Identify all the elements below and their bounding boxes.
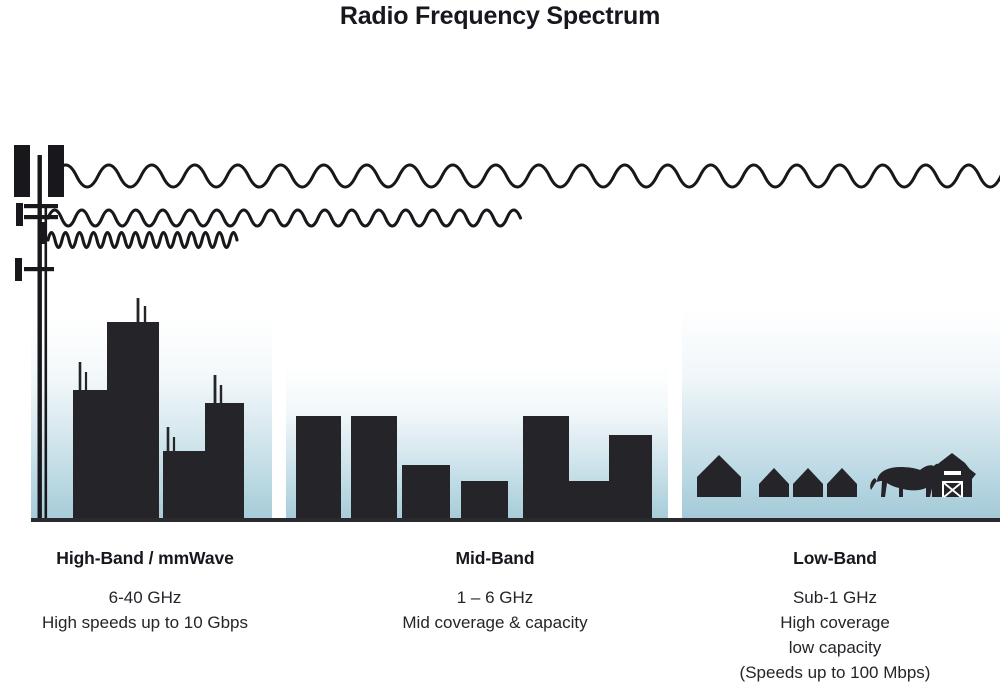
band-name-high: High-Band / mmWave	[0, 548, 290, 569]
band-frequency-high: 6-40 GHz	[0, 585, 290, 610]
band-details-mid: 1 – 6 GHz Mid coverage & capacity	[350, 585, 640, 635]
band-detail-low-1: low capacity	[690, 635, 980, 660]
band-frequency-mid: 1 – 6 GHz	[350, 585, 640, 610]
tower-crossbar-2b	[24, 215, 58, 219]
skyscraper-icon-3	[163, 451, 205, 521]
band-caption-mid: Mid-Band 1 – 6 GHz Mid coverage & capaci…	[350, 548, 640, 635]
wave-low-band	[55, 165, 1000, 187]
band-name-mid: Mid-Band	[350, 548, 640, 569]
skyscraper-icon-1	[73, 390, 107, 521]
tower-panel-lower-left	[15, 258, 22, 281]
wave-mid-band	[48, 210, 521, 226]
building-icon-2	[351, 416, 397, 521]
tower-crossbar-2	[24, 204, 58, 208]
skyscraper-icon-4	[205, 403, 244, 521]
tower-panel-mid-left	[16, 203, 23, 226]
band-detail-low-0: High coverage	[690, 610, 980, 635]
tower-crossbar-4	[24, 267, 54, 271]
building-icon-5	[523, 416, 569, 521]
tower-panel-upper-right	[48, 145, 64, 197]
tower-mast-main	[38, 155, 42, 521]
tower-panel-mid-right	[41, 222, 47, 244]
band-caption-high: High-Band / mmWave 6-40 GHz High speeds …	[0, 548, 290, 635]
building-icon-6	[569, 481, 610, 521]
band-name-low: Low-Band	[690, 548, 980, 569]
band-detail-mid-0: Mid coverage & capacity	[350, 610, 640, 635]
band-detail-high-0: High speeds up to 10 Gbps	[0, 610, 290, 635]
band-frequency-low: Sub-1 GHz	[690, 585, 980, 610]
building-icon-3	[402, 465, 450, 521]
skyscraper-icon-2	[107, 322, 159, 521]
band-details-high: 6-40 GHz High speeds up to 10 Gbps	[0, 585, 290, 635]
wave-high-band	[48, 233, 237, 248]
tower-mast-secondary	[45, 206, 48, 521]
building-icon-1	[296, 416, 341, 521]
band-caption-low: Low-Band Sub-1 GHz High coverage low cap…	[690, 548, 980, 685]
building-icon-4	[461, 481, 508, 521]
radio-waves	[48, 165, 1000, 248]
building-icon-7	[609, 435, 652, 521]
ground-line	[31, 518, 1000, 522]
tower-panel-upper-left	[14, 145, 30, 197]
band-detail-low-2: (Speeds up to 100 Mbps)	[690, 660, 980, 685]
band-details-low: Sub-1 GHz High coverage low capacity (Sp…	[690, 585, 980, 685]
